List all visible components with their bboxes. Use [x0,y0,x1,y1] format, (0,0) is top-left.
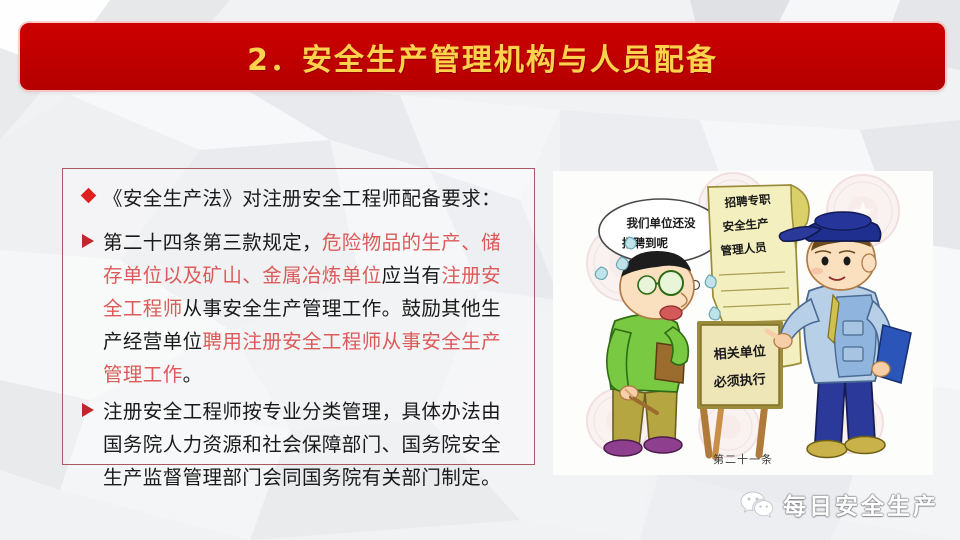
bullet-item-2: 注册安全工程师按专业分类管理，具体办法由国务院人力资源和社会保障部门、国务院安全… [73,395,520,494]
content-text-box: 《安全生产法》对注册安全工程师配备要求： 第二十四条第三款规定，危险物品的生产、… [62,168,535,465]
bullet-text-0: 《安全生产法》对注册安全工程师配备要求： [103,182,520,215]
bullet-item-1: 第二十四条第三款规定，危险物品的生产、储存单位以及矿山、金属冶炼单位应当有注册安… [73,226,520,391]
text-run: 《安全生产法》对注册安全工程师配备要求： [103,187,501,210]
text-run: 。 [183,363,203,386]
slide-canvas: 2．安全生产管理机构与人员配备 《安全生产法》对注册安全工程师配备要求： 第二十… [0,0,960,540]
text-run: 注册安全工程师按专业分类管理，具体办法由国务院人力资源和社会保障部门、国务院安全… [103,400,501,489]
watermark-text: 每日安全生产 [783,487,939,521]
cartoon-illustration: 我们单位还没 招聘到呢 [553,171,933,475]
text-run: 应当有 [382,264,442,287]
arrow-bullet-icon [73,226,103,252]
wechat-icon [740,490,774,518]
arrow-bullet-icon [73,395,103,421]
bullet-text-1: 第二十四条第三款规定，危险物品的生产、储存单位以及矿山、金属冶炼单位应当有注册安… [103,226,520,391]
illustration-caption: 第二十一条 [553,451,933,467]
watermark: 每日安全生产 [740,487,939,521]
bullet-text-2: 注册安全工程师按专业分类管理，具体办法由国务院人力资源和社会保障部门、国务院安全… [103,395,520,494]
svg-text:我们单位还没: 我们单位还没 [627,216,696,230]
text-run: 第二十四条第三款规定， [103,231,322,254]
page-title: 2．安全生产管理机构与人员配备 [247,35,718,79]
illustration-graphic: 我们单位还没 招聘到呢 [553,171,933,475]
diamond-bullet-icon [73,182,103,205]
bullet-item-0: 《安全生产法》对注册安全工程师配备要求： [73,182,520,215]
slide-title-bar: 2．安全生产管理机构与人员配备 [20,23,945,90]
